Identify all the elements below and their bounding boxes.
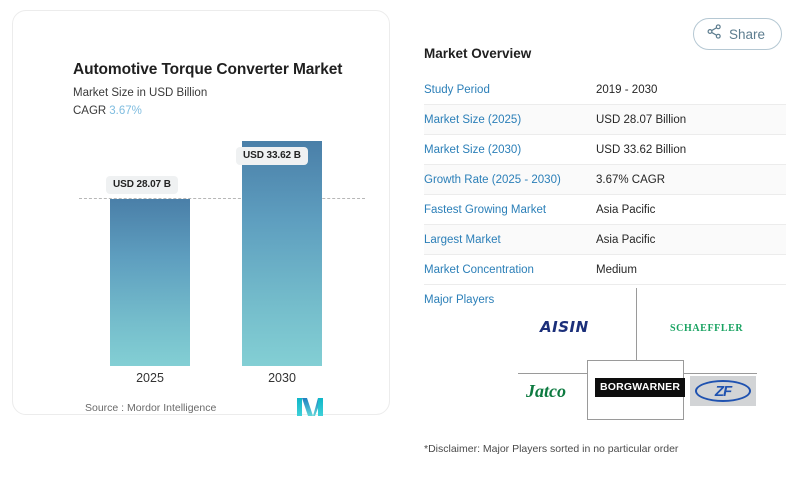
cagr-label: CAGR [73, 105, 106, 117]
market-overview-title: Market Overview [424, 46, 786, 61]
cagr-value: 3.67% [109, 105, 142, 117]
table-row: Market Concentration Medium [424, 255, 786, 285]
market-overview-panel: Market Overview Study Period 2019 - 2030… [424, 46, 786, 306]
connector-vertical-line [636, 288, 637, 360]
table-row: Study Period 2019 - 2030 [424, 75, 786, 105]
chart-subtitle: Market Size in USD Billion [73, 87, 207, 99]
bar-chart-plot-area: USD 28.07 B USD 33.62 B [73, 141, 373, 366]
row-value: USD 33.62 Billion [596, 144, 686, 156]
row-label: Fastest Growing Market [424, 204, 596, 216]
bar-label-2025: USD 28.07 B [106, 176, 178, 194]
mordor-intelligence-logo [297, 398, 323, 416]
zf-label: ZF [715, 383, 731, 400]
bar-2025[interactable] [110, 199, 190, 366]
connector-horizontal-line-right [681, 373, 757, 374]
row-label: Growth Rate (2025 - 2030) [424, 174, 596, 186]
bar-label-2030: USD 33.62 B [236, 147, 308, 165]
table-row: Market Size (2030) USD 33.62 Billion [424, 135, 786, 165]
bar-2030[interactable] [242, 141, 322, 366]
market-summary-page: Automotive Torque Converter Market Marke… [0, 0, 800, 482]
x-axis-tick-2030: 2030 [242, 371, 322, 385]
table-row: Growth Rate (2025 - 2030) 3.67% CAGR [424, 165, 786, 195]
share-nodes-icon [707, 24, 722, 44]
logo-zf: ZF [690, 376, 756, 406]
row-value: Asia Pacific [596, 204, 655, 216]
table-row: Market Size (2025) USD 28.07 Billion [424, 105, 786, 135]
row-label: Market Size (2025) [424, 114, 596, 126]
table-row: Fastest Growing Market Asia Pacific [424, 195, 786, 225]
logo-jatco: Jatco [526, 381, 566, 402]
chart-card: Automotive Torque Converter Market Marke… [12, 10, 390, 415]
x-axis-tick-2025: 2025 [110, 371, 190, 385]
row-value: USD 28.07 Billion [596, 114, 686, 126]
connector-horizontal-line-left [518, 373, 592, 374]
row-value: Medium [596, 264, 637, 276]
row-value: 3.67% CAGR [596, 174, 665, 186]
logo-aisin: AISIN [540, 318, 589, 336]
share-button-label: Share [729, 27, 765, 42]
row-label: Market Size (2030) [424, 144, 596, 156]
row-value: Asia Pacific [596, 234, 655, 246]
source-text: Source : Mordor Intelligence [85, 402, 216, 414]
chart-title: Automotive Torque Converter Market [73, 61, 342, 79]
logo-schaeffler: SCHAEFFLER [670, 323, 743, 334]
logo-borgwarner: BORGWARNER [595, 378, 685, 397]
row-label: Largest Market [424, 234, 596, 246]
row-label: Study Period [424, 84, 596, 96]
row-value: 2019 - 2030 [596, 84, 657, 96]
cagr-row: CAGR3.67% [73, 105, 142, 117]
major-players-diagram: AISIN SCHAEFFLER Jatco BORGWARNER ZF [500, 288, 790, 420]
row-label: Market Concentration [424, 264, 596, 276]
disclaimer-text: *Disclaimer: Major Players sorted in no … [424, 443, 678, 455]
table-row: Largest Market Asia Pacific [424, 225, 786, 255]
